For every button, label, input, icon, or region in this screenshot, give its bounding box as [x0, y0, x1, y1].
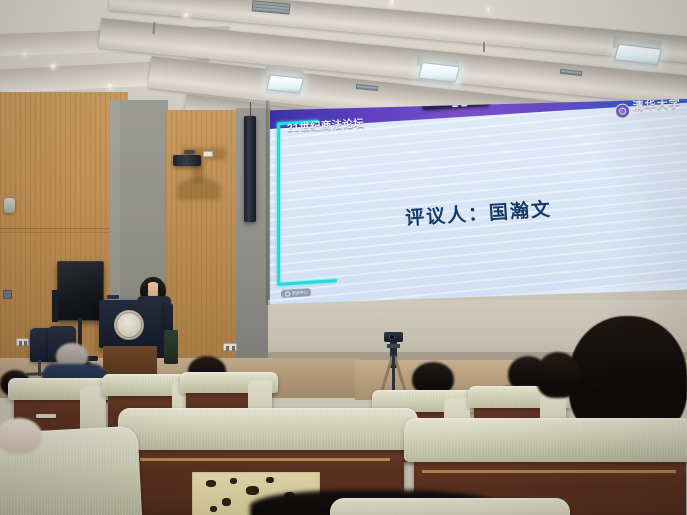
line-array-speaker — [244, 116, 256, 222]
equipment-case — [164, 330, 178, 364]
tsinghua-seal-icon — [615, 103, 631, 119]
wall-outlet — [3, 290, 12, 299]
fluorescent-panel-light — [266, 74, 304, 93]
auditorium-photo: 21世纪商法论坛 清华大学 Tsinghua University 腾讯会议控制… — [0, 0, 687, 515]
recessed-downlight-icon — [486, 8, 492, 12]
audience-head — [0, 418, 42, 454]
recessed-downlight-icon — [183, 13, 190, 18]
seat-cushion — [404, 418, 687, 462]
recessed-downlight-icon — [50, 64, 57, 69]
slide-status-label: 安全中心 — [292, 289, 308, 296]
screen-left-shadow — [266, 100, 271, 305]
wall-outlet — [223, 343, 237, 351]
recessed-downlight-icon — [107, 84, 114, 89]
tripod-head — [387, 344, 400, 348]
speaker-cable — [250, 102, 251, 116]
wood-seam — [0, 232, 128, 233]
projection-screen: 21世纪商法论坛 清华大学 Tsinghua University 腾讯会议控制… — [270, 99, 687, 304]
tripod-leg — [392, 356, 395, 392]
seat-cushion — [330, 498, 570, 515]
audience-head — [536, 352, 580, 398]
seat-handle — [36, 414, 56, 418]
seat-trim — [140, 458, 390, 461]
seat-trim — [422, 470, 676, 473]
wood-seam — [0, 228, 128, 229]
lamp-shadow — [177, 178, 221, 200]
video-camera-tripod — [378, 332, 408, 394]
tripod-leg — [393, 356, 407, 393]
slide-accent-bar-vertical — [277, 123, 280, 283]
light-hanger — [483, 42, 485, 52]
wall-sconce — [4, 198, 15, 213]
wall-plate — [203, 151, 213, 157]
podium-microphone — [107, 295, 119, 299]
recessed-downlight-icon — [389, 0, 396, 5]
shield-icon — [285, 291, 290, 296]
tsinghua-emblem-icon — [114, 310, 144, 340]
ceiling-hook — [184, 150, 195, 154]
camera-lens-icon — [389, 334, 395, 340]
monitor-arm — [52, 290, 58, 322]
confidence-monitor — [57, 261, 104, 321]
wall-outlet — [16, 338, 29, 346]
recessed-downlight-icon — [22, 52, 29, 57]
seat-cushion — [118, 408, 418, 450]
wall-speaker — [173, 155, 201, 166]
